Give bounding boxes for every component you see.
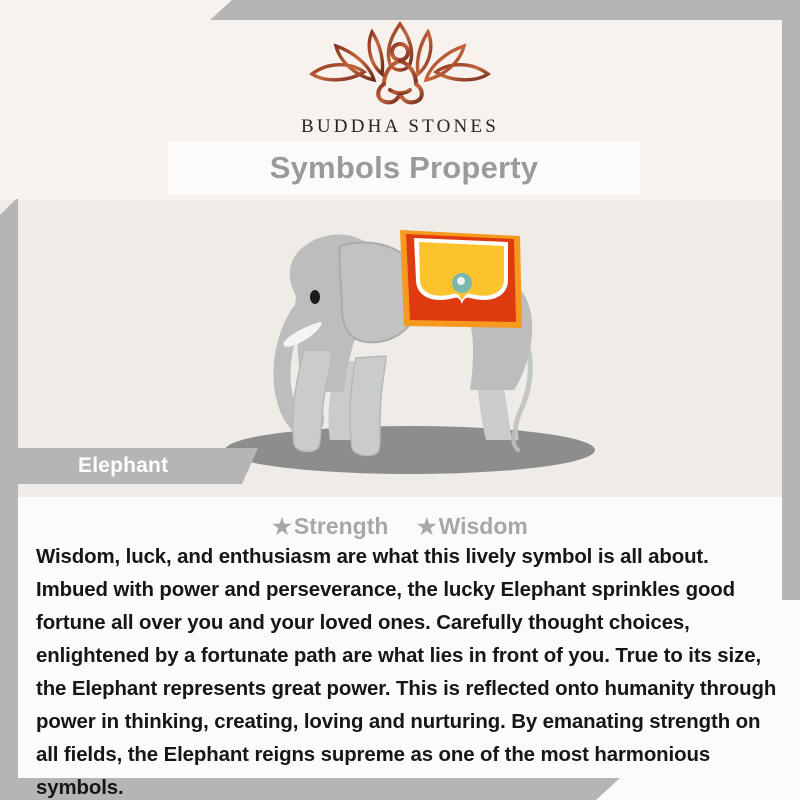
attribute-wisdom: ★Wisdom <box>417 513 528 539</box>
star-icon: ★ <box>417 514 437 539</box>
symbol-name: Elephant <box>78 454 168 478</box>
attribute-wisdom-label: Wisdom <box>439 513 528 539</box>
saddle-gem-highlight <box>457 277 465 285</box>
brand-name: BUDDHA STONES <box>0 116 800 138</box>
star-icon: ★ <box>272 514 292 539</box>
symbol-attributes: ★Strength ★Wisdom <box>0 513 800 540</box>
symbol-description: Wisdom, luck, and enthusiasm are what th… <box>36 541 784 800</box>
brand-logo: BUDDHA STONES <box>0 18 800 138</box>
elephant-saddle-blanket <box>400 230 522 328</box>
attribute-strength: ★Strength <box>272 513 388 539</box>
symbol-property-card: BUDDHA STONES Symbols Property <box>0 0 800 800</box>
lotus-meditation-figure-icon <box>300 18 500 110</box>
title-banner: Symbols Property <box>168 141 640 195</box>
elephant-shadow <box>225 426 595 474</box>
attribute-strength-label: Strength <box>294 513 389 539</box>
decorative-strip-top-right <box>210 0 800 20</box>
page-title: Symbols Property <box>270 150 539 186</box>
elephant-eye <box>310 290 320 304</box>
symbol-name-tag: Elephant <box>18 448 258 484</box>
